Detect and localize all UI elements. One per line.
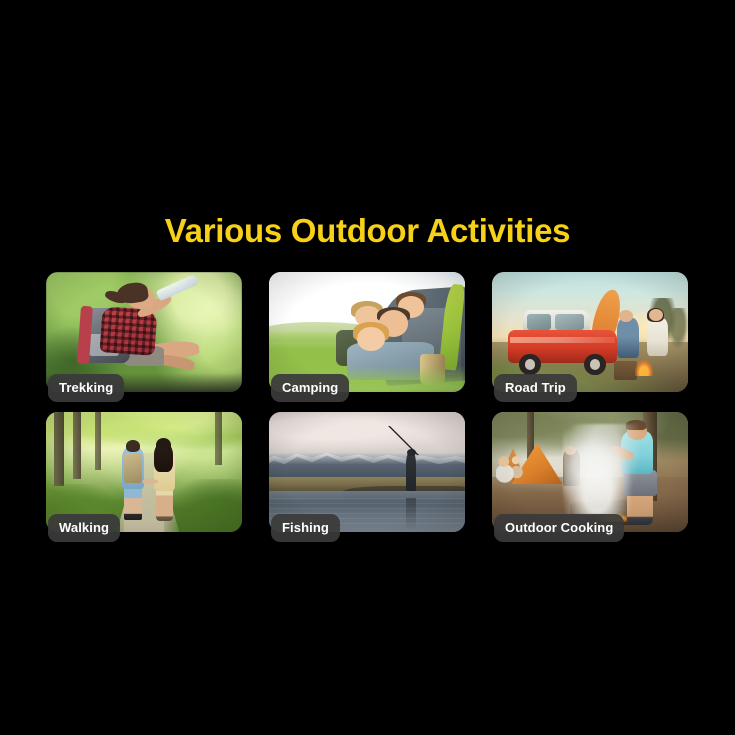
angler-body xyxy=(406,453,416,491)
activity-label-trekking: Trekking xyxy=(48,374,124,402)
activity-card-trekking[interactable]: Trekking xyxy=(46,272,242,392)
camp-chair xyxy=(614,361,638,380)
car-rear-wheel xyxy=(584,354,606,376)
tree-trunk-2 xyxy=(73,412,81,479)
background-tree-second xyxy=(668,308,688,349)
activity-label-camping: Camping xyxy=(271,374,349,402)
campfire-smoke xyxy=(563,424,641,515)
activity-card-camping[interactable]: Camping xyxy=(269,272,465,392)
seated-friends xyxy=(496,453,539,487)
activity-label-outdoor-cooking: Outdoor Cooking xyxy=(494,514,624,542)
activity-label-road-trip: Road Trip xyxy=(494,374,577,402)
woman-legs xyxy=(156,486,174,521)
car-body-highlight xyxy=(510,337,616,343)
woman-head xyxy=(649,309,663,321)
activity-label-fishing: Fishing xyxy=(271,514,340,542)
activity-label-walking: Walking xyxy=(48,514,120,542)
man-legs xyxy=(124,484,142,520)
car-front-wheel xyxy=(519,354,541,376)
overcast-sky xyxy=(269,412,465,453)
angler-reflection xyxy=(406,498,416,529)
woman-body xyxy=(647,318,669,356)
tree-trunk-4 xyxy=(215,412,223,465)
fishing-rod xyxy=(387,426,420,455)
tree-trunk-1 xyxy=(54,412,64,486)
car-front-window xyxy=(527,314,551,330)
tree-trunk-3 xyxy=(95,412,101,470)
slide-canvas: Various Outdoor Activities xyxy=(0,0,735,735)
campfire xyxy=(635,360,653,377)
car-rear-window xyxy=(555,314,584,330)
activity-card-grid: Trekking xyxy=(46,272,689,532)
man-backpack xyxy=(124,453,142,483)
man-body xyxy=(617,318,639,359)
activity-card-road-trip[interactable]: Road Trip xyxy=(492,272,688,392)
right-bushes xyxy=(164,479,242,532)
girl-face xyxy=(357,327,384,351)
activity-card-outdoor-cooking[interactable]: Outdoor Cooking xyxy=(492,412,688,532)
held-hands xyxy=(142,479,158,484)
activity-card-walking[interactable]: Walking xyxy=(46,412,242,532)
woman-head xyxy=(156,438,172,452)
man-head xyxy=(126,440,140,452)
activity-card-fishing[interactable]: Fishing xyxy=(269,412,465,532)
page-title: Various Outdoor Activities xyxy=(0,211,735,251)
